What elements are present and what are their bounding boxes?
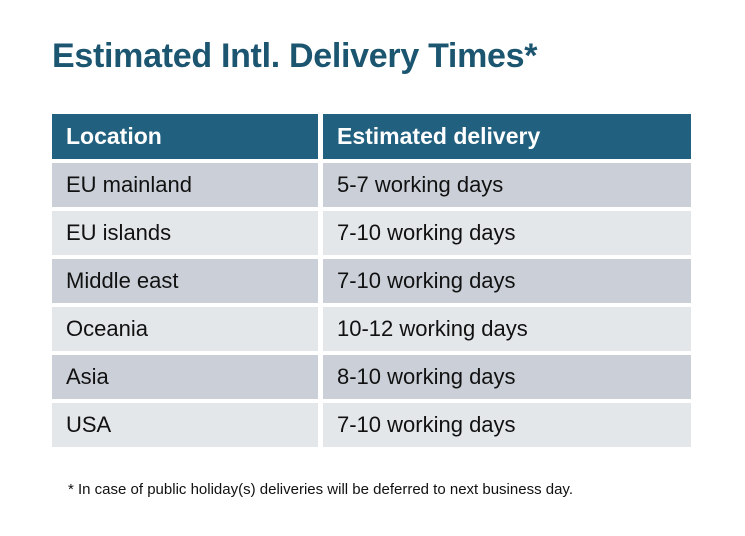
cell-location: EU islands <box>52 211 318 255</box>
delivery-times-table: Location Estimated delivery EU mainland … <box>52 114 691 447</box>
cell-location: USA <box>52 403 318 447</box>
cell-delivery: 10-12 working days <box>323 307 691 351</box>
table-header-row: Location Estimated delivery <box>52 114 691 159</box>
cell-location: Oceania <box>52 307 318 351</box>
delivery-times-page: Estimated Intl. Delivery Times* Location… <box>0 0 745 536</box>
cell-delivery: 8-10 working days <box>323 355 691 399</box>
cell-location: Asia <box>52 355 318 399</box>
table-row: EU mainland 5-7 working days <box>52 163 691 207</box>
cell-delivery: 7-10 working days <box>323 403 691 447</box>
table-row: Middle east 7-10 working days <box>52 259 691 303</box>
cell-location: EU mainland <box>52 163 318 207</box>
cell-delivery: 5-7 working days <box>323 163 691 207</box>
table-row: Asia 8-10 working days <box>52 355 691 399</box>
cell-location: Middle east <box>52 259 318 303</box>
cell-delivery: 7-10 working days <box>323 211 691 255</box>
table-row: Oceania 10-12 working days <box>52 307 691 351</box>
table-row: USA 7-10 working days <box>52 403 691 447</box>
footnote-text: * In case of public holiday(s) deliverie… <box>68 481 573 498</box>
table-row: EU islands 7-10 working days <box>52 211 691 255</box>
page-title: Estimated Intl. Delivery Times* <box>52 37 537 76</box>
cell-delivery: 7-10 working days <box>323 259 691 303</box>
column-header-location: Location <box>52 114 318 159</box>
column-header-estimated-delivery: Estimated delivery <box>323 114 691 159</box>
